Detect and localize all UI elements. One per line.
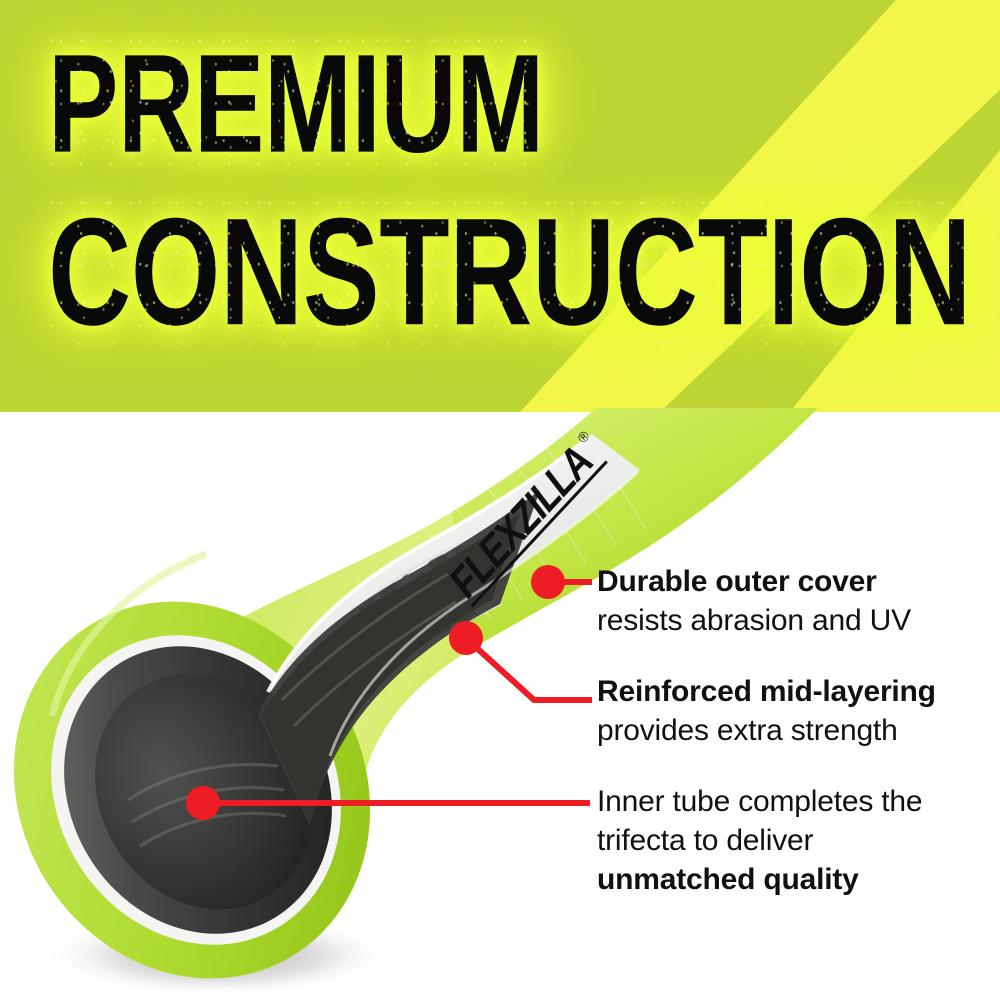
callout-2-regular: provides extra strength	[597, 711, 999, 750]
callout-3-line-1: Inner tube completes the	[597, 782, 999, 821]
callout-1-bold: Durable outer cover	[597, 562, 999, 601]
callout-2-bold: Reinforced mid-layering	[597, 672, 999, 711]
callout-3-line-2: trifecta to deliver	[597, 821, 999, 860]
callout-outer-cover: Durable outer cover resists abrasion and…	[597, 562, 999, 640]
callout-mid-layering: Reinforced mid-layering provides extra s…	[597, 672, 999, 750]
callout-text-group: Durable outer cover resists abrasion and…	[0, 0, 1000, 1000]
callout-3-line-3: unmatched quality	[597, 860, 999, 899]
callout-inner-tube: Inner tube completes the trifecta to del…	[597, 782, 999, 899]
callout-1-regular: resists abrasion and UV	[597, 601, 999, 640]
product-infographic: PREMIUM CONSTRUCTION	[0, 0, 1000, 1000]
